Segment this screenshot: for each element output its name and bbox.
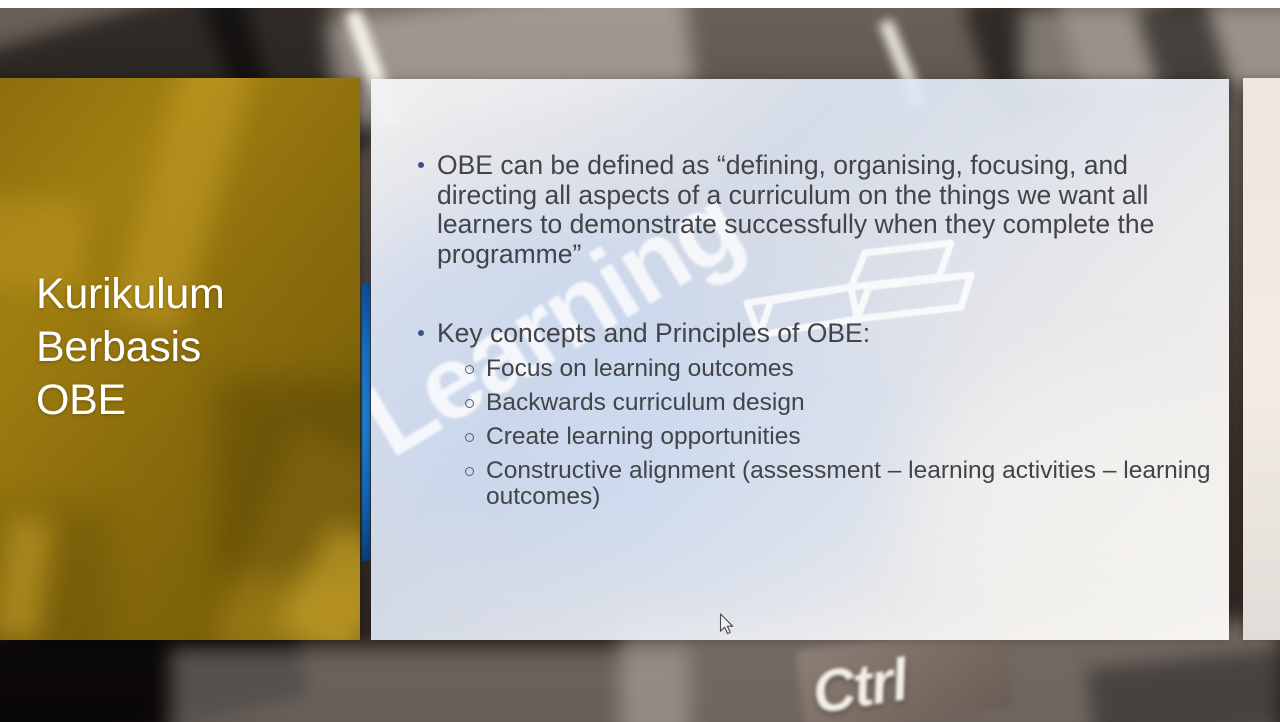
sub-bullet-item: Constructive alignment (assessment – lea… [411,458,1211,510]
bullet-disc-icon [418,330,424,336]
sub-bullet-text: Focus on learning outcomes [486,355,794,382]
sub-bullet-item: Focus on learning outcomes [411,356,1211,382]
sub-bullet-text: Constructive alignment (assessment – lea… [486,457,1210,510]
slide-body: OBE can be defined as “defining, organis… [411,151,1211,518]
bullet-item: OBE can be defined as “defining, organis… [411,151,1211,269]
sub-bullet-item: Backwards curriculum design [411,390,1211,416]
sub-bullet-list: Focus on learning outcomes Backwards cur… [411,356,1211,510]
bullet-circle-icon [465,467,474,476]
bullet-spacer [411,269,1211,319]
slide-content-panel: Learning OBE can be defined as “defining… [371,79,1229,640]
sub-bullet-text: Create learning opportunities [486,423,801,450]
bullet-circle-icon [465,433,474,442]
bullet-text: OBE can be defined as “defining, organis… [437,150,1154,269]
bullet-circle-icon [465,399,474,408]
slide-title-line-1: Kurikulum [36,268,336,321]
slide-title-panel: Kurikulum Berbasis OBE [0,78,360,640]
bullet-item: Key concepts and Principles of OBE: [411,319,1211,349]
bullet-circle-icon [465,365,474,374]
bullet-text: Key concepts and Principles of OBE: [437,318,870,348]
bullet-disc-icon [418,162,424,168]
sub-bullet-text: Backwards curriculum design [486,389,805,416]
slide-title-line-2: Berbasis [36,321,336,374]
sub-bullet-item: Create learning opportunities [411,424,1211,450]
slide-title-line-3: OBE [36,374,336,427]
top-white-bar [0,0,1280,8]
next-slide-preview[interactable] [1243,78,1280,640]
accent-stripe [362,283,370,561]
slide-title: Kurikulum Berbasis OBE [36,268,336,427]
